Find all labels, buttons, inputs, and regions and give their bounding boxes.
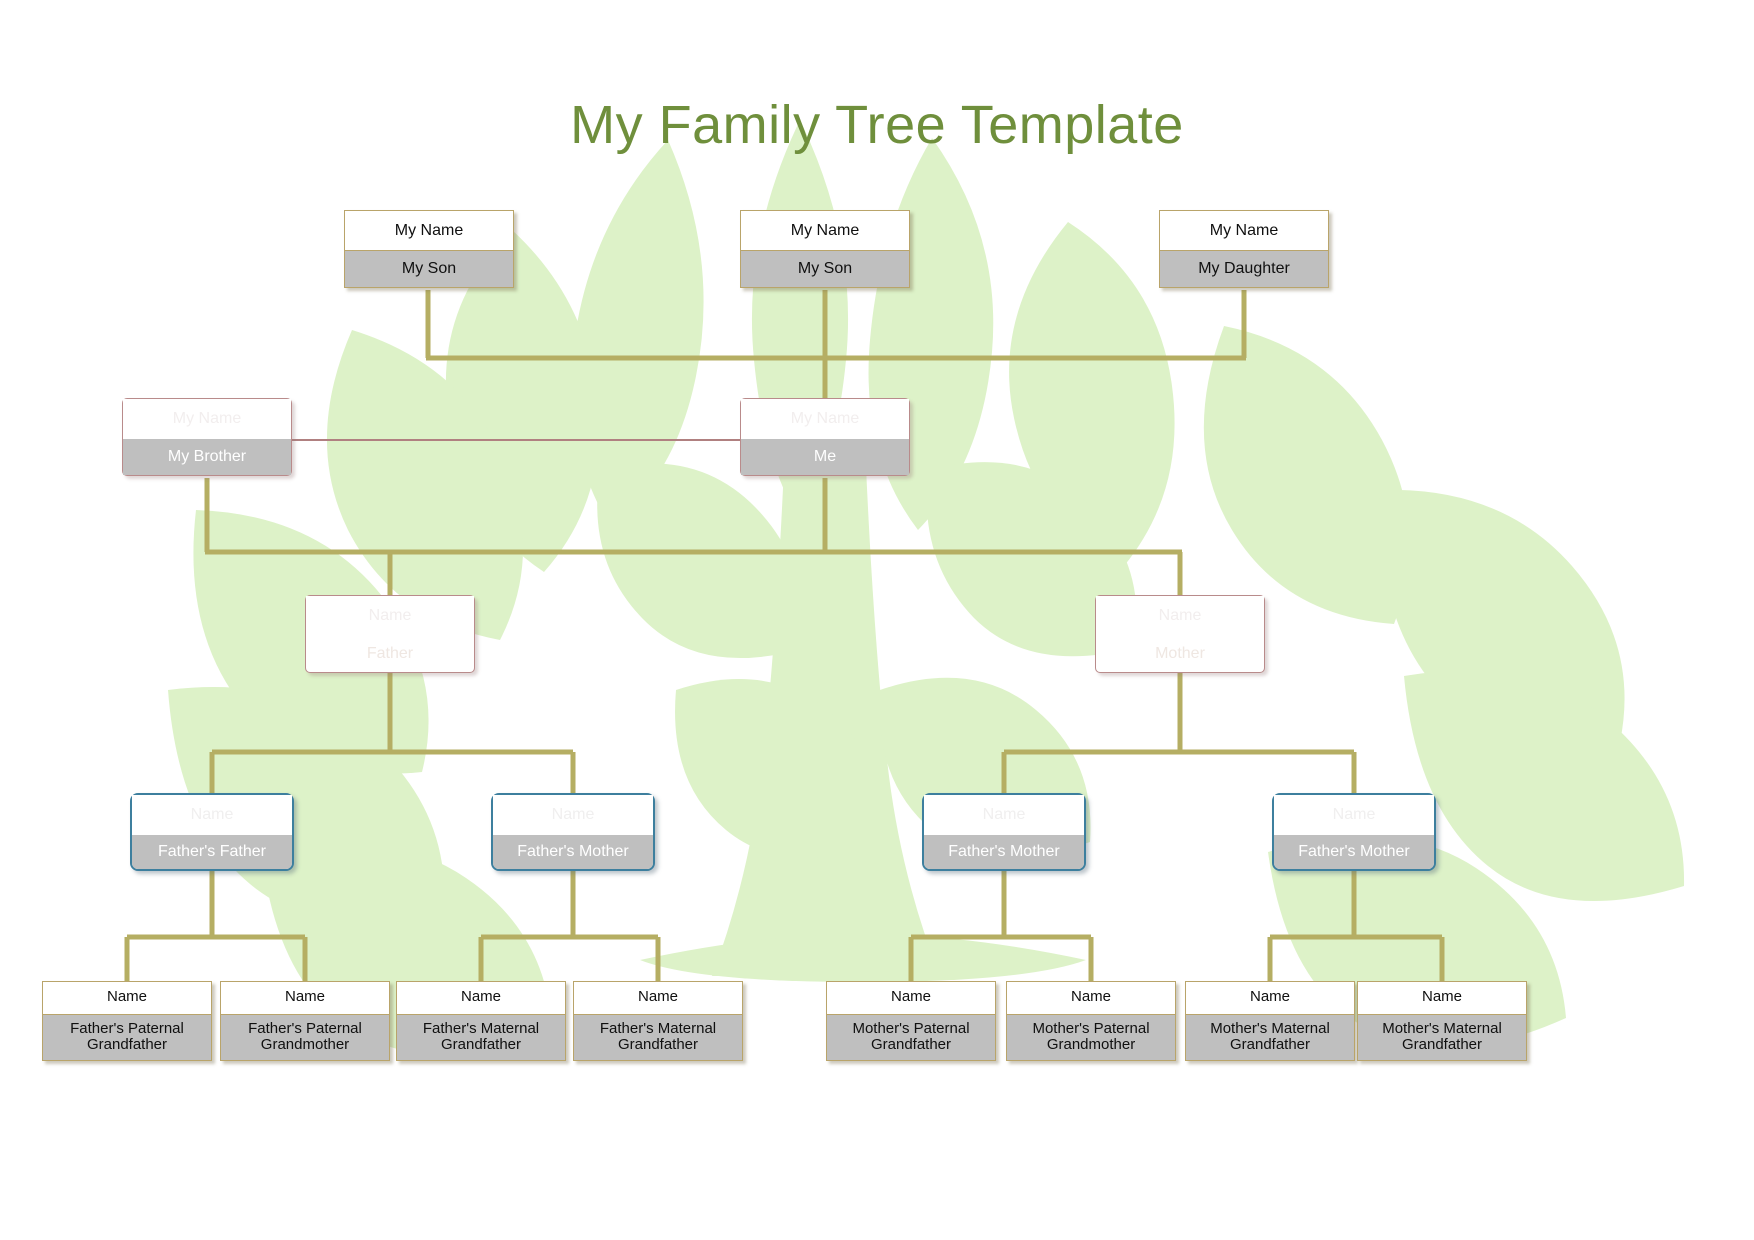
- node-name-label[interactable]: Name: [1186, 982, 1354, 1014]
- node-role-label[interactable]: My Son: [741, 250, 909, 287]
- node-role-label[interactable]: Mother's Paternal Grandmother: [1007, 1014, 1175, 1060]
- node-child-2[interactable]: My Name My Son: [740, 210, 910, 288]
- node-name-label[interactable]: My Name: [123, 399, 291, 439]
- node-role-label[interactable]: Mother's Maternal Grandfather: [1186, 1014, 1354, 1060]
- node-role-label[interactable]: Mother: [1096, 636, 1264, 672]
- family-tree-canvas: My Family Tree Template My Name My Son M…: [0, 0, 1754, 1240]
- node-parent-mother[interactable]: Name Mother: [1095, 595, 1265, 673]
- node-role-label[interactable]: Father's Mother: [924, 835, 1084, 869]
- node-role-label[interactable]: Father's Father: [132, 835, 292, 869]
- node-name-label[interactable]: Name: [493, 795, 653, 835]
- node-parent-father[interactable]: Name Father: [305, 595, 475, 673]
- node-name-label[interactable]: Name: [924, 795, 1084, 835]
- node-great-grandparent-4[interactable]: Name Father's Maternal Grandfather: [573, 981, 743, 1061]
- node-great-grandparent-6[interactable]: Name Mother's Paternal Grandmother: [1006, 981, 1176, 1061]
- node-child-3[interactable]: My Name My Daughter: [1159, 210, 1329, 288]
- node-role-label[interactable]: My Son: [345, 250, 513, 287]
- page-title: My Family Tree Template: [0, 94, 1754, 156]
- node-name-label[interactable]: Name: [1096, 596, 1264, 636]
- node-great-grandparent-7[interactable]: Name Mother's Maternal Grandfather: [1185, 981, 1355, 1061]
- node-role-label[interactable]: Father's Mother: [1274, 835, 1434, 869]
- node-name-label[interactable]: Name: [306, 596, 474, 636]
- node-role-label[interactable]: Father's Maternal Grandfather: [397, 1014, 565, 1060]
- node-sibling-me[interactable]: My Name Me: [740, 398, 910, 476]
- node-name-label[interactable]: Name: [1007, 982, 1175, 1014]
- node-name-label[interactable]: Name: [43, 982, 211, 1014]
- node-great-grandparent-1[interactable]: Name Father's Paternal Grandfather: [42, 981, 212, 1061]
- node-grandparent-2[interactable]: Name Father's Mother: [491, 793, 655, 871]
- node-name-label[interactable]: Name: [397, 982, 565, 1014]
- node-role-label[interactable]: Mother's Maternal Grandfather: [1358, 1014, 1526, 1060]
- node-name-label[interactable]: Name: [827, 982, 995, 1014]
- node-role-label[interactable]: Father's Paternal Grandmother: [221, 1014, 389, 1060]
- node-name-label[interactable]: My Name: [345, 211, 513, 250]
- node-great-grandparent-5[interactable]: Name Mother's Paternal Grandfather: [826, 981, 996, 1061]
- node-name-label[interactable]: Name: [1274, 795, 1434, 835]
- node-name-label[interactable]: My Name: [741, 399, 909, 439]
- node-grandparent-3[interactable]: Name Father's Mother: [922, 793, 1086, 871]
- node-role-label[interactable]: Mother's Paternal Grandfather: [827, 1014, 995, 1060]
- node-role-label[interactable]: Father: [306, 636, 474, 672]
- node-child-1[interactable]: My Name My Son: [344, 210, 514, 288]
- node-role-label[interactable]: My Brother: [123, 439, 291, 475]
- node-great-grandparent-8[interactable]: Name Mother's Maternal Grandfather: [1357, 981, 1527, 1061]
- node-role-label[interactable]: Father's Mother: [493, 835, 653, 869]
- node-great-grandparent-3[interactable]: Name Father's Maternal Grandfather: [396, 981, 566, 1061]
- node-role-label[interactable]: Father's Maternal Grandfather: [574, 1014, 742, 1060]
- node-name-label[interactable]: My Name: [1160, 211, 1328, 250]
- node-sibling-brother[interactable]: My Name My Brother: [122, 398, 292, 476]
- node-name-label[interactable]: My Name: [741, 211, 909, 250]
- node-great-grandparent-2[interactable]: Name Father's Paternal Grandmother: [220, 981, 390, 1061]
- node-role-label[interactable]: Father's Paternal Grandfather: [43, 1014, 211, 1060]
- node-name-label[interactable]: Name: [1358, 982, 1526, 1014]
- node-grandparent-1[interactable]: Name Father's Father: [130, 793, 294, 871]
- node-name-label[interactable]: Name: [132, 795, 292, 835]
- node-role-label[interactable]: My Daughter: [1160, 250, 1328, 287]
- node-role-label[interactable]: Me: [741, 439, 909, 475]
- node-name-label[interactable]: Name: [574, 982, 742, 1014]
- nodes-layer: My Name My Son My Name My Son My Name My…: [0, 0, 1754, 1240]
- node-name-label[interactable]: Name: [221, 982, 389, 1014]
- node-grandparent-4[interactable]: Name Father's Mother: [1272, 793, 1436, 871]
